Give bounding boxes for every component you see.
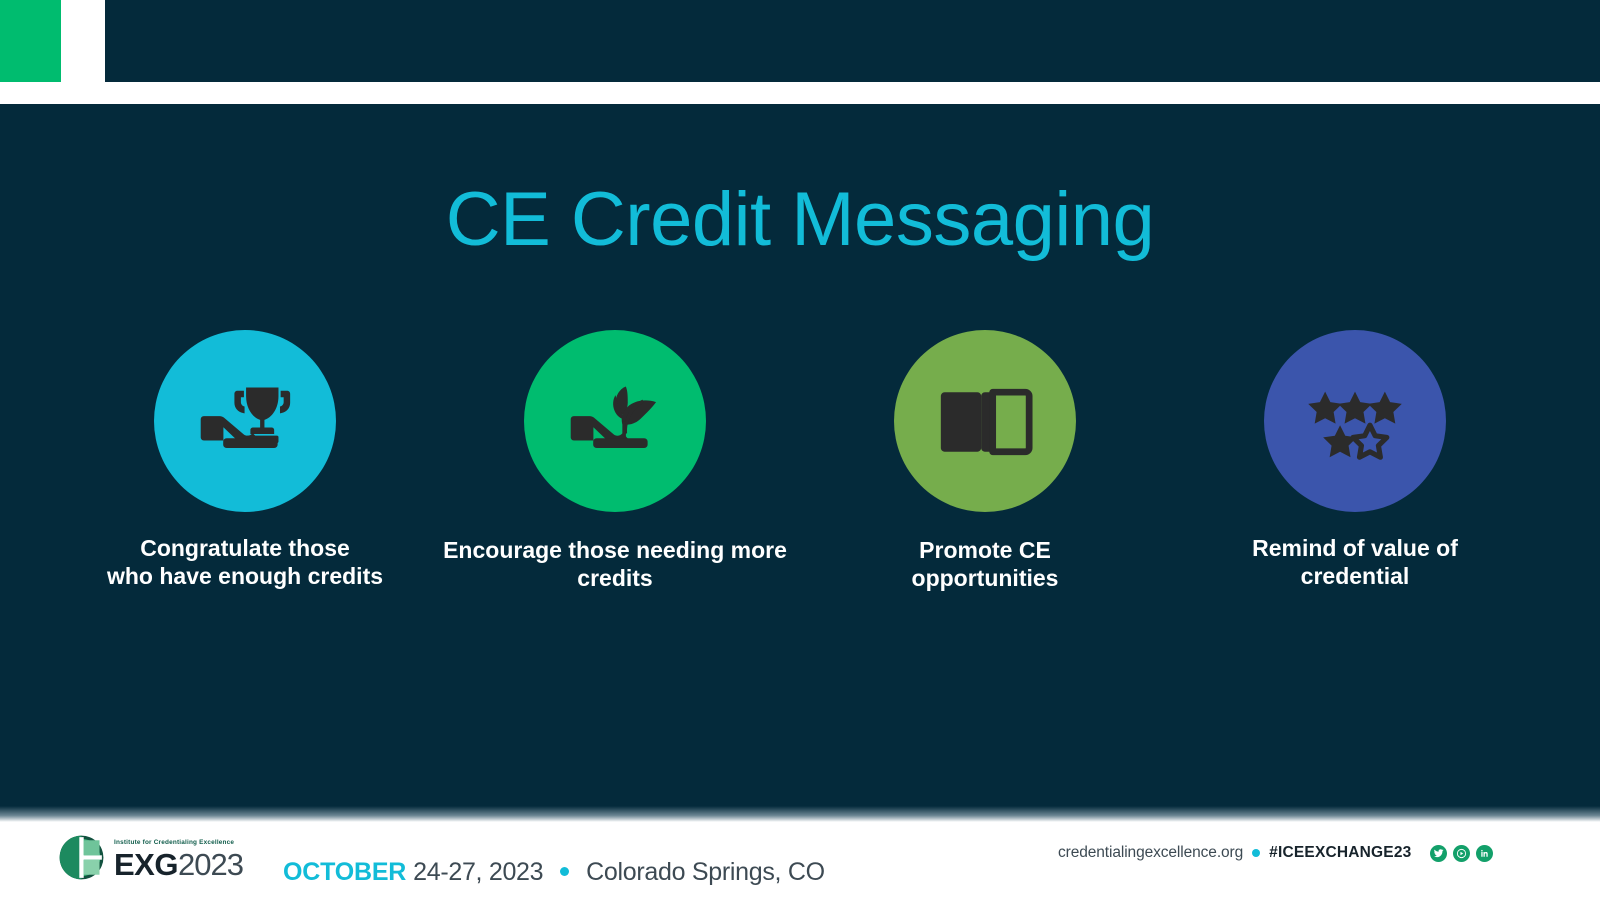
five-star-rating-icon (1299, 365, 1411, 477)
hand-holding-plant-icon (561, 367, 669, 475)
ice-exg-year: EXG2023 (114, 849, 243, 880)
top-bar-green-accent (0, 0, 61, 82)
open-book-icon (937, 373, 1033, 469)
top-bar-navy-band (105, 0, 1600, 82)
social-icon-group (1424, 845, 1493, 862)
ice-year: 2023 (178, 847, 243, 882)
separator-dot-icon (560, 867, 569, 876)
top-bar (0, 0, 1600, 82)
website-url[interactable]: credentialingexcellence.org (1058, 844, 1243, 862)
icon-circle-encourage (524, 330, 706, 512)
hand-holding-trophy-icon (191, 367, 299, 475)
ice-globe-logo-icon (58, 834, 105, 886)
separator-dot-icon (1252, 849, 1260, 857)
twitter-icon[interactable] (1430, 845, 1447, 862)
column-caption-encourage: Encourage those needing more credits (435, 536, 795, 592)
event-days: 24-27, 2023 (413, 858, 543, 886)
column-caption-remind: Remind of value of credential (1170, 534, 1540, 590)
ice-brand: EXG (114, 847, 178, 882)
footer-logo-lockup: Institute for Credentialing Excellence E… (58, 834, 243, 886)
event-hashtag: #ICEEXCHANGE23 (1269, 844, 1411, 862)
youtube-icon[interactable] (1453, 845, 1470, 862)
column-caption-congratulate: Congratulate those who have enough credi… (60, 534, 430, 590)
linkedin-icon[interactable] (1476, 845, 1493, 862)
slide-bottom-edge (0, 806, 1600, 822)
footer-links: credentialingexcellence.org #ICEEXCHANGE… (1058, 843, 1493, 863)
icon-circle-congratulate (154, 330, 336, 512)
ice-wordmark: Institute for Credentialing Excellence E… (114, 840, 243, 879)
event-details: OCTOBER 24-27, 2023 Colorado Springs, CO (283, 860, 825, 885)
footer-bar: Institute for Credentialing Excellence E… (0, 822, 1600, 900)
column-encourage: Encourage those needing more credits (430, 330, 800, 592)
slide-canvas: CE Credit Messaging (0, 104, 1600, 820)
event-month: OCTOBER (283, 858, 406, 886)
page-title: CE Credit Messaging (0, 182, 1600, 258)
icon-circle-remind (1264, 330, 1446, 512)
column-remind: Remind of value of credential (1170, 330, 1540, 590)
icon-circle-promote (894, 330, 1076, 512)
icon-column-group: Congratulate those who have enough credi… (60, 330, 1540, 592)
column-caption-promote: Promote CE opportunities (800, 536, 1170, 592)
column-promote: Promote CE opportunities (800, 330, 1170, 592)
event-city: Colorado Springs, CO (586, 858, 825, 886)
column-congratulate: Congratulate those who have enough credi… (60, 330, 430, 590)
